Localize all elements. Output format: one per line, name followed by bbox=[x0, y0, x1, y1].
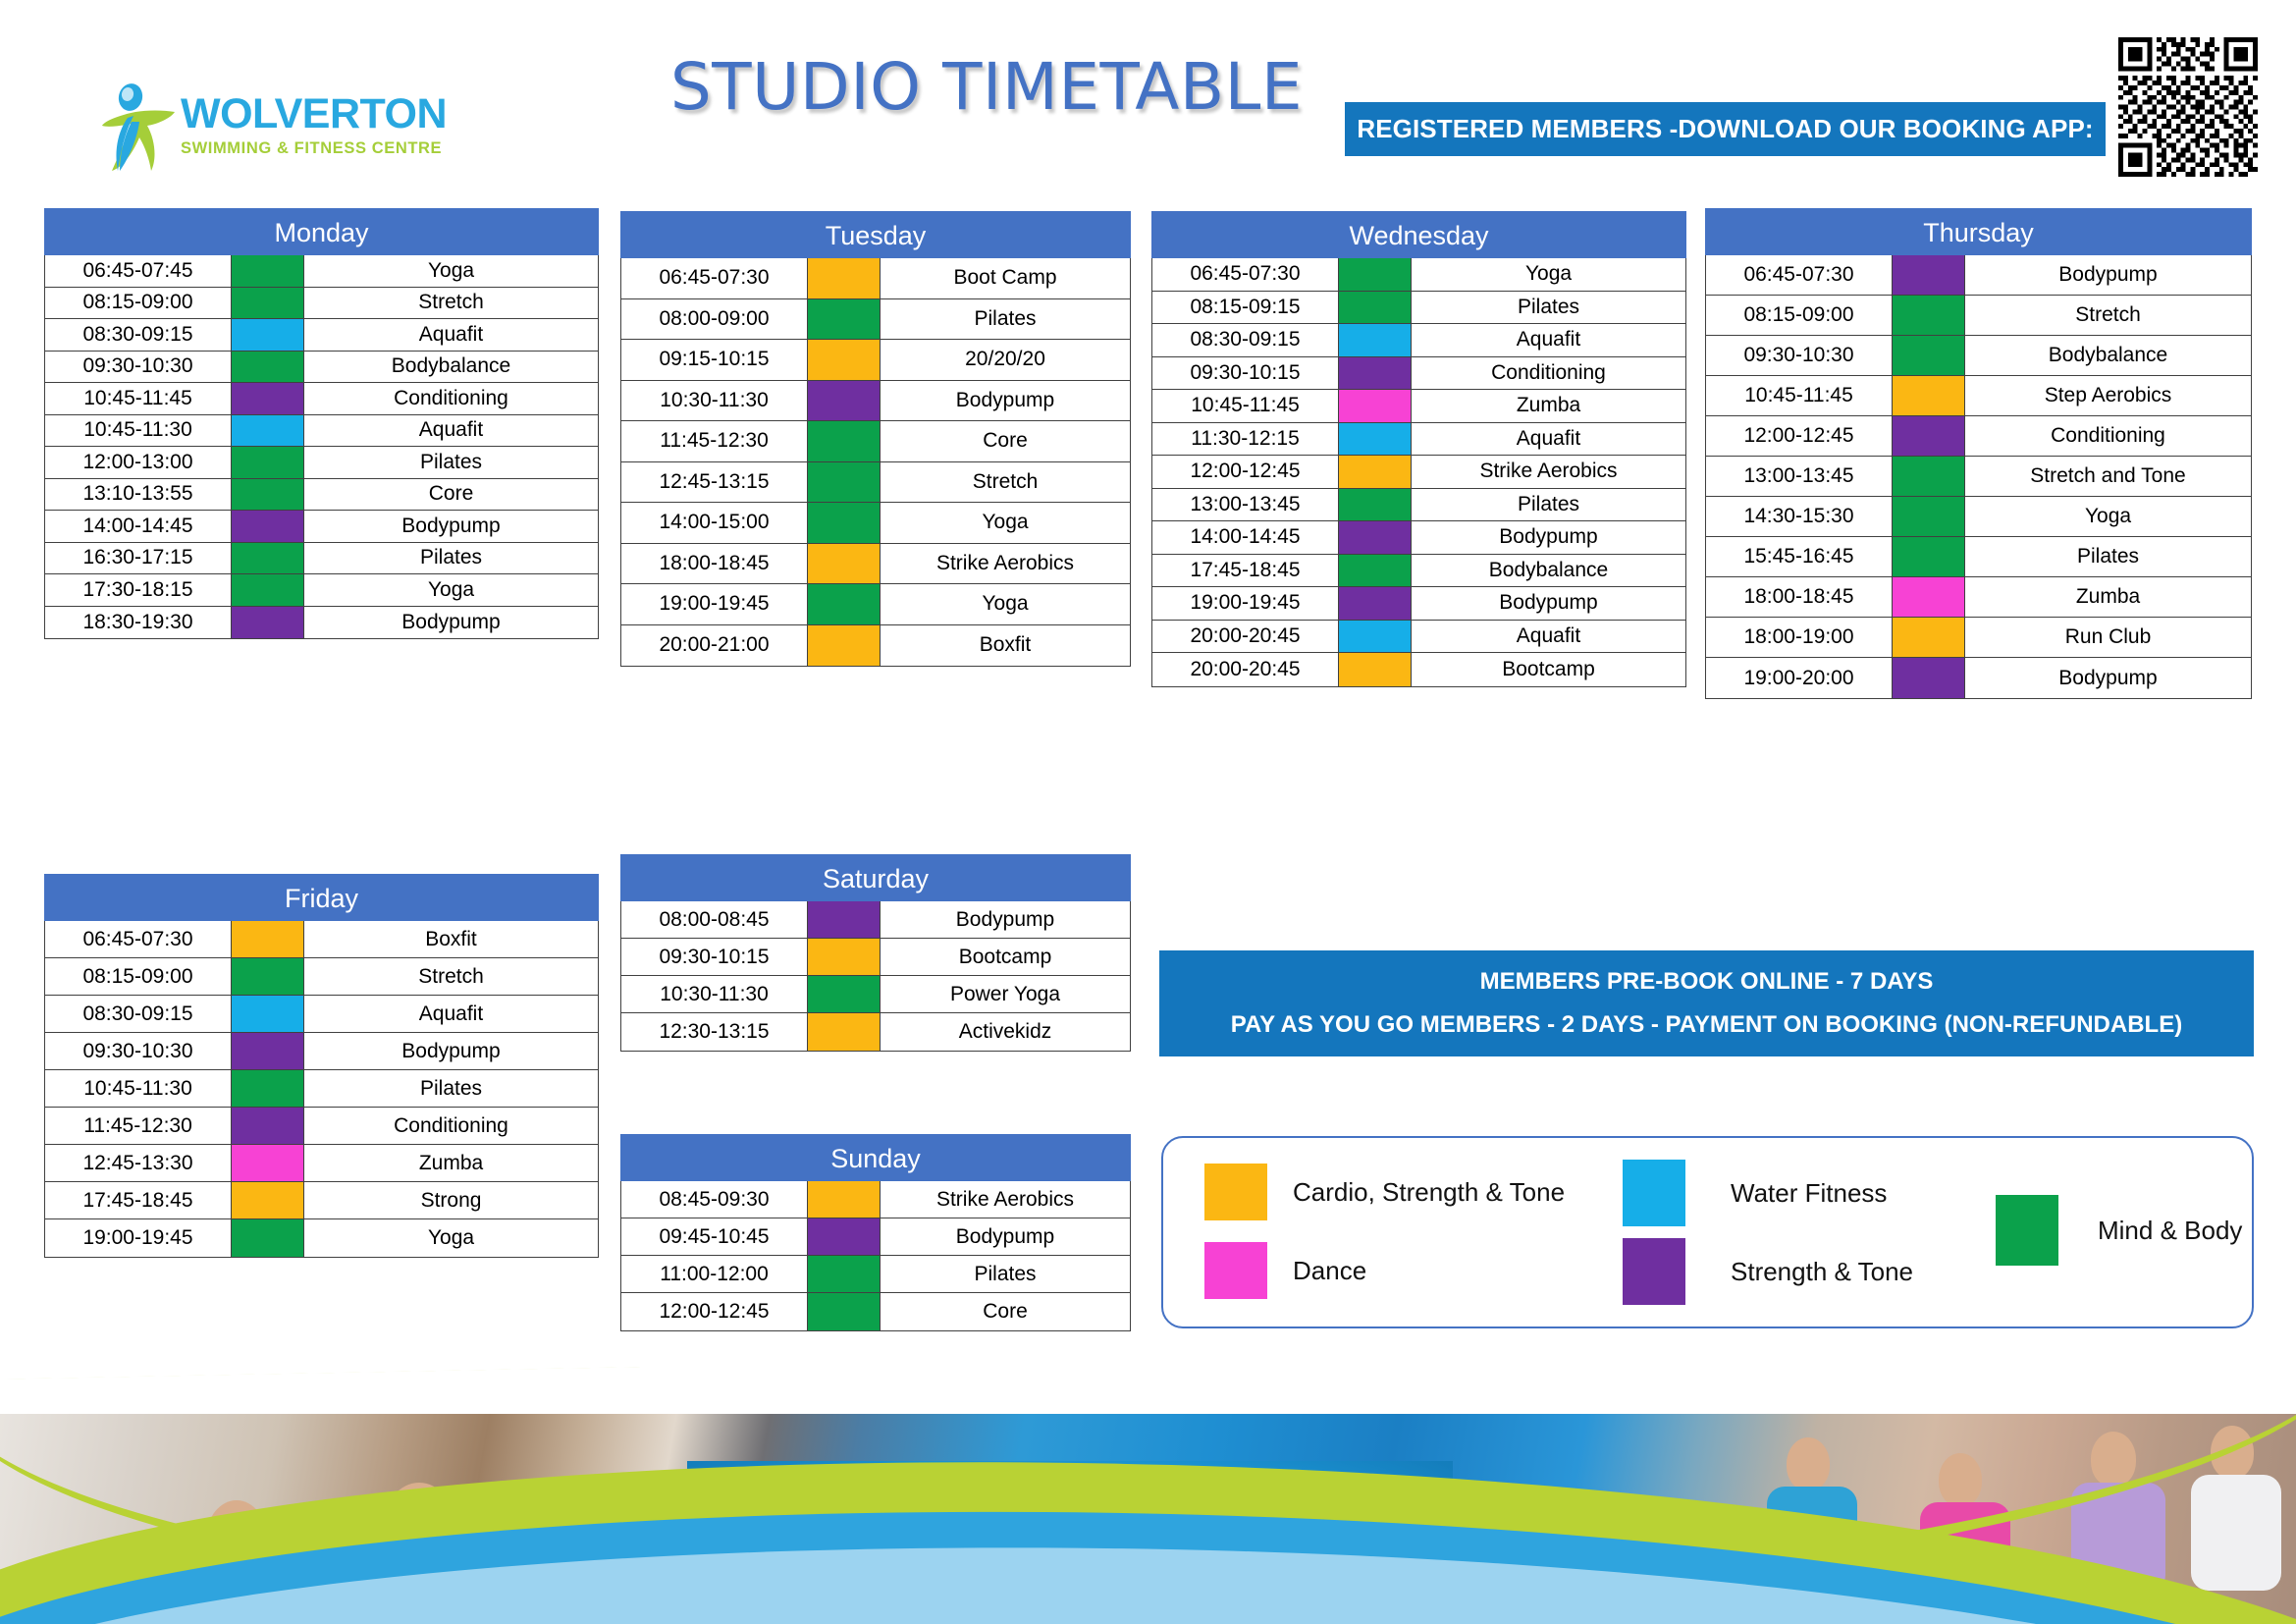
class-time: 14:00-15:00 bbox=[621, 503, 808, 543]
class-category-swatch-mind bbox=[1893, 336, 1965, 375]
class-row[interactable]: 11:45-12:30Conditioning bbox=[45, 1108, 598, 1145]
class-name: Conditioning bbox=[304, 1108, 598, 1144]
class-time: 17:45-18:45 bbox=[1152, 555, 1339, 587]
class-name: Yoga bbox=[881, 503, 1130, 543]
class-name: Pilates bbox=[304, 1070, 598, 1107]
class-name: Yoga bbox=[1412, 258, 1685, 291]
legend-label-cardio: Cardio, Strength & Tone bbox=[1293, 1177, 1565, 1208]
class-time: 19:00-19:45 bbox=[45, 1219, 232, 1257]
class-row[interactable]: 10:30-11:30Power Yoga bbox=[621, 976, 1130, 1013]
booking-policy-banner: MEMBERS PRE-BOOK ONLINE - 7 DAYS PAY AS … bbox=[1159, 950, 2254, 1056]
class-category-swatch-mind bbox=[232, 288, 304, 319]
class-row[interactable]: 08:15-09:00Stretch bbox=[45, 288, 598, 320]
class-category-swatch-water bbox=[232, 319, 304, 351]
class-name: Pilates bbox=[881, 299, 1130, 340]
class-category-swatch-water bbox=[1339, 621, 1412, 653]
class-time: 11:45-12:30 bbox=[621, 421, 808, 461]
class-row[interactable]: 19:00-19:45Yoga bbox=[45, 1219, 598, 1257]
class-row[interactable]: 08:15-09:00Stretch bbox=[1706, 296, 2251, 336]
class-list-thursday: 06:45-07:30Bodypump08:15-09:00Stretch09:… bbox=[1705, 255, 2252, 699]
class-time: 09:45-10:45 bbox=[621, 1218, 808, 1255]
day-header-wednesday: Wednesday bbox=[1151, 211, 1686, 258]
class-category-swatch-mind bbox=[1339, 555, 1412, 587]
day-table-sunday: Sunday08:45-09:30Strike Aerobics09:45-10… bbox=[620, 1134, 1131, 1331]
day-table-wednesday: Wednesday06:45-07:30Yoga08:15-09:15Pilat… bbox=[1151, 211, 1686, 687]
class-category-swatch-mind bbox=[808, 421, 881, 461]
class-name: Pilates bbox=[1965, 537, 2251, 576]
class-time: 16:30-17:15 bbox=[45, 543, 232, 574]
class-category-swatch-strength bbox=[232, 383, 304, 414]
class-time: 09:30-10:30 bbox=[45, 1033, 232, 1069]
class-list-friday: 06:45-07:30Boxfit08:15-09:00Stretch08:30… bbox=[44, 921, 599, 1258]
class-row[interactable]: 08:00-09:00Pilates bbox=[621, 299, 1130, 341]
class-time: 08:15-09:00 bbox=[45, 958, 232, 995]
class-time: 11:30-12:15 bbox=[1152, 423, 1339, 456]
day-table-monday: Monday06:45-07:45Yoga08:15-09:00Stretch0… bbox=[44, 208, 599, 639]
class-time: 08:15-09:15 bbox=[1152, 292, 1339, 324]
class-time: 10:45-11:45 bbox=[1152, 390, 1339, 422]
footer-photo-band bbox=[0, 1367, 2296, 1624]
class-name: Bodypump bbox=[881, 1218, 1130, 1255]
class-name: Power Yoga bbox=[881, 976, 1130, 1012]
class-category-swatch-cardio bbox=[232, 1182, 304, 1218]
class-category-swatch-strength bbox=[1893, 255, 1965, 295]
legend-swatch-mind bbox=[1996, 1195, 2058, 1266]
class-row[interactable]: 08:15-09:15Pilates bbox=[1152, 292, 1685, 325]
class-name: Zumba bbox=[1412, 390, 1685, 422]
class-category-swatch-dance bbox=[232, 1145, 304, 1181]
class-name: Yoga bbox=[304, 1219, 598, 1257]
class-time: 19:00-20:00 bbox=[1706, 658, 1893, 698]
class-name: Bodypump bbox=[1412, 521, 1685, 554]
class-category-swatch-cardio bbox=[808, 625, 881, 667]
class-time: 09:30-10:15 bbox=[621, 939, 808, 975]
class-time: 08:45-09:30 bbox=[621, 1181, 808, 1218]
class-time: 10:30-11:30 bbox=[621, 381, 808, 421]
class-row[interactable]: 15:45-16:45Pilates bbox=[1706, 537, 2251, 577]
class-row[interactable]: 12:00-12:45Core bbox=[621, 1293, 1130, 1330]
class-name: Aquafit bbox=[304, 319, 598, 351]
day-header-sunday: Sunday bbox=[620, 1134, 1131, 1181]
legend-swatch-strength bbox=[1623, 1238, 1685, 1305]
class-category-swatch-mind bbox=[232, 1219, 304, 1257]
class-name: Conditioning bbox=[1412, 357, 1685, 390]
brand-logo: WOLVERTON SWIMMING & FITNESS CENTRE bbox=[98, 81, 491, 171]
class-row[interactable]: 08:30-09:15Aquafit bbox=[1152, 324, 1685, 357]
legend-item-strength: Strength & Tone bbox=[1623, 1238, 1913, 1305]
class-row[interactable]: 11:00-12:00Pilates bbox=[621, 1256, 1130, 1293]
class-category-swatch-mind bbox=[1893, 457, 1965, 496]
class-row[interactable]: 09:30-10:30Bodypump bbox=[45, 1033, 598, 1070]
day-header-monday: Monday bbox=[44, 208, 599, 255]
class-name: Stretch and Tone bbox=[1965, 457, 2251, 496]
legend-swatch-water bbox=[1623, 1160, 1685, 1226]
class-name: Conditioning bbox=[304, 383, 598, 414]
class-row[interactable]: 09:15-10:1520/20/20 bbox=[621, 340, 1130, 381]
class-time: 17:30-18:15 bbox=[45, 574, 232, 606]
class-row[interactable]: 08:30-09:15Aquafit bbox=[45, 996, 598, 1033]
class-time: 09:30-10:15 bbox=[1152, 357, 1339, 390]
class-name: Core bbox=[304, 479, 598, 511]
legend-label-dance: Dance bbox=[1293, 1256, 1366, 1286]
class-name: Yoga bbox=[1965, 497, 2251, 536]
class-category-swatch-mind bbox=[1339, 292, 1412, 324]
class-category-swatch-mind bbox=[232, 574, 304, 606]
class-time: 14:00-14:45 bbox=[45, 511, 232, 542]
class-time: 20:00-20:45 bbox=[1152, 653, 1339, 686]
class-name: Strike Aerobics bbox=[881, 1181, 1130, 1218]
class-category-swatch-strength bbox=[232, 1033, 304, 1069]
class-row[interactable]: 11:45-12:30Core bbox=[621, 421, 1130, 462]
logo-brand-name: WOLVERTON bbox=[181, 93, 447, 135]
class-time: 10:45-11:30 bbox=[45, 1070, 232, 1107]
class-category-swatch-strength bbox=[232, 511, 304, 542]
class-category-swatch-strength bbox=[808, 381, 881, 421]
class-row[interactable]: 12:00-12:45Strike Aerobics bbox=[1152, 456, 1685, 489]
class-row[interactable]: 10:45-11:30Aquafit bbox=[45, 415, 598, 448]
class-name: Pilates bbox=[1412, 489, 1685, 521]
class-list-saturday: 08:00-08:45Bodypump09:30-10:15Bootcamp10… bbox=[620, 901, 1131, 1052]
class-category-swatch-mind bbox=[232, 543, 304, 574]
class-row[interactable]: 10:45-11:45Zumba bbox=[1152, 390, 1685, 423]
qr-code-icon[interactable] bbox=[2118, 37, 2258, 177]
class-name: Bodypump bbox=[304, 607, 598, 639]
class-name: Aquafit bbox=[304, 996, 598, 1032]
class-row[interactable]: 13:00-13:45Pilates bbox=[1152, 489, 1685, 522]
day-header-saturday: Saturday bbox=[620, 854, 1131, 901]
legend-item-water: Water Fitness bbox=[1623, 1160, 1887, 1226]
class-name: Bodybalance bbox=[304, 352, 598, 383]
class-list-sunday: 08:45-09:30Strike Aerobics09:45-10:45Bod… bbox=[620, 1181, 1131, 1331]
class-row[interactable]: 09:30-10:15Bootcamp bbox=[621, 939, 1130, 976]
class-category-swatch-mind bbox=[808, 584, 881, 624]
legend-item-cardio: Cardio, Strength & Tone bbox=[1204, 1164, 1565, 1220]
class-category-swatch-mind bbox=[808, 1293, 881, 1330]
category-legend: Cardio, Strength & Tone Dance Water Fitn… bbox=[1161, 1136, 2254, 1328]
class-category-swatch-strength bbox=[232, 1108, 304, 1144]
class-category-swatch-strength bbox=[1339, 587, 1412, 620]
class-category-swatch-strength bbox=[1339, 521, 1412, 554]
class-time: 08:00-08:45 bbox=[621, 901, 808, 938]
class-row[interactable]: 06:45-07:45Yoga bbox=[45, 255, 598, 288]
class-row[interactable]: 14:00-14:45Bodypump bbox=[45, 511, 598, 543]
logo-figure-icon bbox=[98, 82, 177, 169]
class-name: Pilates bbox=[304, 447, 598, 478]
page-title: STUDIO TIMETABLE bbox=[633, 49, 1340, 125]
class-category-swatch-mind bbox=[1893, 497, 1965, 536]
class-time: 13:10-13:55 bbox=[45, 479, 232, 511]
day-table-friday: Friday06:45-07:30Boxfit08:15-09:00Stretc… bbox=[44, 874, 599, 1258]
class-name: Strong bbox=[304, 1182, 598, 1218]
class-name: 20/20/20 bbox=[881, 340, 1130, 380]
class-time: 13:00-13:45 bbox=[1152, 489, 1339, 521]
class-row[interactable]: 17:45-18:45Bodybalance bbox=[1152, 555, 1685, 588]
class-category-swatch-water bbox=[232, 415, 304, 447]
class-category-swatch-mind bbox=[232, 255, 304, 287]
class-time: 18:00-18:45 bbox=[1706, 577, 1893, 617]
class-category-swatch-dance bbox=[1893, 577, 1965, 617]
class-category-swatch-mind bbox=[808, 976, 881, 1012]
class-time: 08:15-09:00 bbox=[1706, 296, 1893, 335]
day-header-tuesday: Tuesday bbox=[620, 211, 1131, 258]
class-time: 18:00-18:45 bbox=[621, 544, 808, 584]
class-time: 10:45-11:45 bbox=[1706, 376, 1893, 415]
day-header-friday: Friday bbox=[44, 874, 599, 921]
class-name: Bootcamp bbox=[881, 939, 1130, 975]
class-name: Boot Camp bbox=[881, 258, 1130, 298]
class-row[interactable]: 18:30-19:30Bodypump bbox=[45, 607, 598, 639]
class-time: 08:30-09:15 bbox=[1152, 324, 1339, 356]
class-list-wednesday: 06:45-07:30Yoga08:15-09:15Pilates08:30-0… bbox=[1151, 258, 1686, 687]
class-row[interactable]: 06:45-07:30Boot Camp bbox=[621, 258, 1130, 299]
class-time: 11:00-12:00 bbox=[621, 1256, 808, 1292]
class-row[interactable]: 16:30-17:15Pilates bbox=[45, 543, 598, 575]
class-row[interactable]: 14:30-15:30Yoga bbox=[1706, 497, 2251, 537]
class-category-swatch-mind bbox=[808, 1256, 881, 1292]
class-row[interactable]: 12:45-13:15Stretch bbox=[621, 462, 1130, 504]
class-time: 06:45-07:30 bbox=[1706, 255, 1893, 295]
class-category-swatch-mind bbox=[808, 299, 881, 340]
policy-line-payg: PAY AS YOU GO MEMBERS - 2 DAYS - PAYMENT… bbox=[1231, 1011, 2182, 1039]
class-row[interactable]: 17:30-18:15Yoga bbox=[45, 574, 598, 607]
class-name: Activekidz bbox=[881, 1013, 1130, 1051]
class-name: Bodypump bbox=[881, 381, 1130, 421]
class-row[interactable]: 12:00-13:00Pilates bbox=[45, 447, 598, 479]
class-row[interactable]: 14:00-14:45Bodypump bbox=[1152, 521, 1685, 555]
class-name: Strike Aerobics bbox=[881, 544, 1130, 584]
day-table-saturday: Saturday08:00-08:45Bodypump09:30-10:15Bo… bbox=[620, 854, 1131, 1052]
class-category-swatch-cardio bbox=[1893, 376, 1965, 415]
class-name: Yoga bbox=[304, 255, 598, 287]
class-name: Zumba bbox=[1965, 577, 2251, 617]
class-time: 10:30-11:30 bbox=[621, 976, 808, 1012]
class-category-swatch-cardio bbox=[808, 939, 881, 975]
class-row[interactable]: 06:45-07:30Boxfit bbox=[45, 921, 598, 958]
class-row[interactable]: 10:45-11:30Pilates bbox=[45, 1070, 598, 1108]
class-row[interactable]: 19:00-19:45Bodypump bbox=[1152, 587, 1685, 621]
class-row[interactable]: 13:00-13:45Stretch and Tone bbox=[1706, 457, 2251, 497]
class-row[interactable]: 10:45-11:45Conditioning bbox=[45, 383, 598, 415]
class-row[interactable]: 19:00-20:00Bodypump bbox=[1706, 658, 2251, 698]
class-time: 08:30-09:15 bbox=[45, 319, 232, 351]
class-name: Bodypump bbox=[881, 901, 1130, 938]
class-time: 12:00-13:00 bbox=[45, 447, 232, 478]
class-row[interactable]: 12:00-12:45Conditioning bbox=[1706, 416, 2251, 457]
class-time: 12:45-13:15 bbox=[621, 462, 808, 503]
class-time: 12:00-12:45 bbox=[1706, 416, 1893, 456]
day-table-tuesday: Tuesday06:45-07:30Boot Camp08:00-09:00Pi… bbox=[620, 211, 1131, 667]
class-category-swatch-water bbox=[232, 996, 304, 1032]
class-name: Pilates bbox=[304, 543, 598, 574]
class-name: Bodypump bbox=[304, 511, 598, 542]
class-row[interactable]: 20:00-20:45Aquafit bbox=[1152, 621, 1685, 654]
class-name: Stretch bbox=[304, 288, 598, 319]
class-name: Bootcamp bbox=[1412, 653, 1685, 686]
class-row[interactable]: 18:00-18:45Zumba bbox=[1706, 577, 2251, 618]
class-name: Aquafit bbox=[1412, 324, 1685, 356]
class-time: 10:45-11:45 bbox=[45, 383, 232, 414]
class-row[interactable]: 19:00-19:45Yoga bbox=[621, 584, 1130, 625]
class-row[interactable]: 09:30-10:30Bodybalance bbox=[1706, 336, 2251, 376]
class-name: Core bbox=[881, 1293, 1130, 1330]
class-time: 19:00-19:45 bbox=[1152, 587, 1339, 620]
class-name: Aquafit bbox=[304, 415, 598, 447]
class-category-swatch-mind bbox=[232, 958, 304, 995]
class-name: Pilates bbox=[1412, 292, 1685, 324]
class-row[interactable]: 09:30-10:30Bodybalance bbox=[45, 352, 598, 384]
class-category-swatch-water bbox=[1339, 423, 1412, 456]
class-name: Yoga bbox=[881, 584, 1130, 624]
class-row[interactable]: 14:00-15:00Yoga bbox=[621, 503, 1130, 544]
legend-label-strength: Strength & Tone bbox=[1731, 1257, 1913, 1287]
class-time: 09:30-10:30 bbox=[45, 352, 232, 383]
class-time: 14:00-14:45 bbox=[1152, 521, 1339, 554]
class-row[interactable]: 17:45-18:45Strong bbox=[45, 1182, 598, 1219]
class-time: 08:15-09:00 bbox=[45, 288, 232, 319]
class-category-swatch-mind bbox=[808, 503, 881, 543]
class-category-swatch-mind bbox=[1893, 296, 1965, 335]
class-category-swatch-cardio bbox=[808, 1013, 881, 1051]
legend-label-water: Water Fitness bbox=[1731, 1178, 1887, 1209]
class-row[interactable]: 09:30-10:15Conditioning bbox=[1152, 357, 1685, 391]
class-name: Run Club bbox=[1965, 618, 2251, 657]
class-category-swatch-water bbox=[1339, 324, 1412, 356]
class-category-swatch-mind bbox=[1339, 489, 1412, 521]
class-time: 18:30-19:30 bbox=[45, 607, 232, 639]
class-name: Bodybalance bbox=[1965, 336, 2251, 375]
class-row[interactable]: 08:15-09:00Stretch bbox=[45, 958, 598, 996]
class-time: 12:30-13:15 bbox=[621, 1013, 808, 1051]
class-row[interactable]: 18:00-19:00Run Club bbox=[1706, 618, 2251, 658]
class-category-swatch-mind bbox=[232, 447, 304, 478]
class-time: 18:00-19:00 bbox=[1706, 618, 1893, 657]
class-category-swatch-cardio bbox=[808, 1181, 881, 1218]
class-time: 08:30-09:15 bbox=[45, 996, 232, 1032]
class-time: 13:00-13:45 bbox=[1706, 457, 1893, 496]
class-name: Aquafit bbox=[1412, 621, 1685, 653]
class-category-swatch-mind bbox=[232, 479, 304, 511]
class-name: Bodypump bbox=[1412, 587, 1685, 620]
timetable-poster: WOLVERTON SWIMMING & FITNESS CENTRE STUD… bbox=[0, 0, 2296, 1624]
class-row[interactable]: 20:00-21:00Boxfit bbox=[621, 625, 1130, 667]
class-time: 06:45-07:30 bbox=[621, 258, 808, 298]
legend-item-mind: Mind & Body bbox=[1996, 1195, 2242, 1266]
class-list-monday: 06:45-07:45Yoga08:15-09:00Stretch08:30-0… bbox=[44, 255, 599, 639]
class-row[interactable]: 06:45-07:30Yoga bbox=[1152, 258, 1685, 292]
class-name: Step Aerobics bbox=[1965, 376, 2251, 415]
class-name: Bodybalance bbox=[1412, 555, 1685, 587]
class-name: Bodypump bbox=[1965, 255, 2251, 295]
class-name: Pilates bbox=[881, 1256, 1130, 1292]
class-category-swatch-mind bbox=[1339, 258, 1412, 291]
class-category-swatch-cardio bbox=[1339, 653, 1412, 686]
legend-item-dance: Dance bbox=[1204, 1242, 1366, 1299]
class-category-swatch-strength bbox=[1339, 357, 1412, 390]
class-category-swatch-strength bbox=[232, 607, 304, 639]
class-name: Yoga bbox=[304, 574, 598, 606]
class-row[interactable]: 08:30-09:15Aquafit bbox=[45, 319, 598, 352]
class-row[interactable]: 18:00-18:45Strike Aerobics bbox=[621, 544, 1130, 585]
class-time: 08:00-09:00 bbox=[621, 299, 808, 340]
policy-line-members: MEMBERS PRE-BOOK ONLINE - 7 DAYS bbox=[1480, 968, 1934, 996]
class-row[interactable]: 08:00-08:45Bodypump bbox=[621, 901, 1130, 939]
class-time: 15:45-16:45 bbox=[1706, 537, 1893, 576]
class-category-swatch-cardio bbox=[808, 258, 881, 298]
class-name: Stretch bbox=[881, 462, 1130, 503]
class-row[interactable]: 08:45-09:30Strike Aerobics bbox=[621, 1181, 1130, 1218]
class-time: 06:45-07:30 bbox=[45, 921, 232, 957]
class-time: 09:15-10:15 bbox=[621, 340, 808, 380]
class-time: 06:45-07:30 bbox=[1152, 258, 1339, 291]
class-row[interactable]: 06:45-07:30Bodypump bbox=[1706, 255, 2251, 296]
class-category-swatch-mind bbox=[232, 352, 304, 383]
class-name: Aquafit bbox=[1412, 423, 1685, 456]
class-name: Boxfit bbox=[881, 625, 1130, 667]
class-time: 10:45-11:30 bbox=[45, 415, 232, 447]
class-category-swatch-strength bbox=[808, 901, 881, 938]
class-category-swatch-strength bbox=[808, 1218, 881, 1255]
logo-brand-tagline: SWIMMING & FITNESS CENTRE bbox=[181, 139, 447, 158]
class-category-swatch-cardio bbox=[808, 340, 881, 380]
class-row[interactable]: 11:30-12:15Aquafit bbox=[1152, 423, 1685, 457]
class-row[interactable]: 20:00-20:45Bootcamp bbox=[1152, 653, 1685, 686]
class-time: 20:00-21:00 bbox=[621, 625, 808, 667]
class-time: 12:45-13:30 bbox=[45, 1145, 232, 1181]
class-row[interactable]: 09:45-10:45Bodypump bbox=[621, 1218, 1130, 1256]
booking-app-banner: REGISTERED MEMBERS -DOWNLOAD OUR BOOKING… bbox=[1345, 102, 2106, 156]
class-category-swatch-strength bbox=[1893, 658, 1965, 698]
class-category-swatch-cardio bbox=[808, 544, 881, 584]
class-category-swatch-cardio bbox=[1339, 456, 1412, 488]
class-time: 12:00-12:45 bbox=[1152, 456, 1339, 488]
class-category-swatch-cardio bbox=[232, 921, 304, 957]
class-time: 06:45-07:45 bbox=[45, 255, 232, 287]
runner-body-4 bbox=[2191, 1475, 2281, 1591]
class-category-swatch-mind bbox=[808, 462, 881, 503]
class-name: Strike Aerobics bbox=[1412, 456, 1685, 488]
class-time: 17:45-18:45 bbox=[45, 1182, 232, 1218]
class-time: 14:30-15:30 bbox=[1706, 497, 1893, 536]
class-category-swatch-dance bbox=[1339, 390, 1412, 422]
day-table-thursday: Thursday06:45-07:30Bodypump08:15-09:00St… bbox=[1705, 208, 2252, 699]
class-row[interactable]: 10:45-11:45Step Aerobics bbox=[1706, 376, 2251, 416]
class-row[interactable]: 12:30-13:15Activekidz bbox=[621, 1013, 1130, 1051]
class-row[interactable]: 10:30-11:30Bodypump bbox=[621, 381, 1130, 422]
class-name: Bodypump bbox=[1965, 658, 2251, 698]
class-list-tuesday: 06:45-07:30Boot Camp08:00-09:00Pilates09… bbox=[620, 258, 1131, 667]
class-time: 12:00-12:45 bbox=[621, 1293, 808, 1330]
class-category-swatch-strength bbox=[1893, 416, 1965, 456]
class-name: Bodypump bbox=[304, 1033, 598, 1069]
class-name: Zumba bbox=[304, 1145, 598, 1181]
legend-swatch-cardio bbox=[1204, 1164, 1267, 1220]
class-time: 09:30-10:30 bbox=[1706, 336, 1893, 375]
class-name: Core bbox=[881, 421, 1130, 461]
legend-label-mind: Mind & Body bbox=[2098, 1216, 2242, 1246]
class-row[interactable]: 13:10-13:55Core bbox=[45, 479, 598, 512]
class-time: 20:00-20:45 bbox=[1152, 621, 1339, 653]
class-name: Stretch bbox=[304, 958, 598, 995]
class-time: 11:45-12:30 bbox=[45, 1108, 232, 1144]
class-category-swatch-mind bbox=[1893, 537, 1965, 576]
class-category-swatch-mind bbox=[232, 1070, 304, 1107]
class-name: Conditioning bbox=[1965, 416, 2251, 456]
class-name: Boxfit bbox=[304, 921, 598, 957]
class-row[interactable]: 12:45-13:30Zumba bbox=[45, 1145, 598, 1182]
class-category-swatch-cardio bbox=[1893, 618, 1965, 657]
class-time: 19:00-19:45 bbox=[621, 584, 808, 624]
day-header-thursday: Thursday bbox=[1705, 208, 2252, 255]
